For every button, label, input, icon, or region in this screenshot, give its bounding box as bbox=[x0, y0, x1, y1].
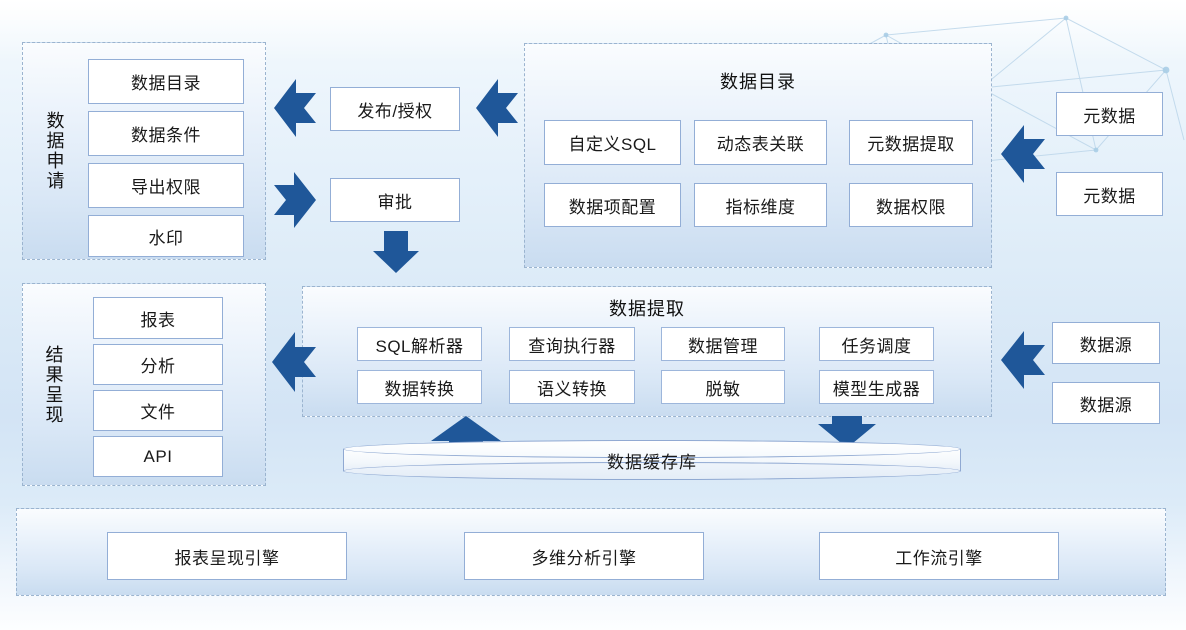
box-data-management[interactable]: 数据管理 bbox=[661, 327, 785, 361]
box-metadata-2[interactable]: 元数据 bbox=[1056, 172, 1163, 216]
arrow-approve-down-arrow bbox=[371, 231, 421, 273]
box-file[interactable]: 文件 bbox=[93, 390, 223, 431]
label-char: 现 bbox=[46, 405, 65, 425]
box-metric-dimension[interactable]: 指标维度 bbox=[694, 183, 827, 227]
box-task-schedule[interactable]: 任务调度 bbox=[819, 327, 934, 361]
box-model-generator[interactable]: 模型生成器 bbox=[819, 370, 934, 404]
panel-data-request-label: 数 据 申 请 bbox=[32, 50, 80, 252]
box-datasource-2[interactable]: 数据源 bbox=[1052, 382, 1160, 424]
arrow-metadata-to-catalog-left-arrow bbox=[1001, 123, 1045, 185]
cylinder-label: 数据缓存库 bbox=[343, 440, 961, 480]
panel-data-extract-title: 数据提取 bbox=[303, 295, 991, 321]
label-char: 果 bbox=[46, 365, 65, 385]
box-datasource-1[interactable]: 数据源 bbox=[1052, 322, 1160, 364]
box-data-condition[interactable]: 数据条件 bbox=[88, 111, 244, 156]
cylinder-data-cache[interactable]: 数据缓存库 bbox=[343, 440, 961, 480]
box-semantic-transform[interactable]: 语义转换 bbox=[509, 370, 635, 404]
box-analysis[interactable]: 分析 bbox=[93, 344, 223, 385]
box-data-permission[interactable]: 数据权限 bbox=[849, 183, 973, 227]
box-data-catalog-request[interactable]: 数据目录 bbox=[88, 59, 244, 104]
box-query-executor[interactable]: 查询执行器 bbox=[509, 327, 635, 361]
label-char: 数 bbox=[47, 111, 66, 131]
box-olap-engine[interactable]: 多维分析引擎 bbox=[464, 532, 704, 580]
box-data-transform[interactable]: 数据转换 bbox=[357, 370, 482, 404]
box-metadata-1[interactable]: 元数据 bbox=[1056, 92, 1163, 136]
diagram-canvas: 数 据 申 请 数据目录 数据条件 导出权限 水印 结 果 呈 现 报表 分析 … bbox=[0, 0, 1186, 630]
box-desensitize[interactable]: 脱敏 bbox=[661, 370, 785, 404]
box-export-permission[interactable]: 导出权限 bbox=[88, 163, 244, 208]
box-watermark[interactable]: 水印 bbox=[88, 215, 244, 257]
box-data-item-config[interactable]: 数据项配置 bbox=[544, 183, 681, 227]
box-sql-parser[interactable]: SQL解析器 bbox=[357, 327, 482, 361]
label-char: 请 bbox=[47, 171, 66, 191]
label-char: 申 bbox=[47, 151, 66, 171]
box-metadata-extract[interactable]: 元数据提取 bbox=[849, 120, 973, 165]
box-dynamic-table-join[interactable]: 动态表关联 bbox=[694, 120, 827, 165]
arrow-publish-to-request-left-arrow bbox=[274, 77, 316, 139]
box-report-engine[interactable]: 报表呈现引擎 bbox=[107, 532, 347, 580]
box-approve[interactable]: 审批 bbox=[330, 178, 460, 222]
box-publish-authorize[interactable]: 发布/授权 bbox=[330, 87, 460, 131]
box-workflow-engine[interactable]: 工作流引擎 bbox=[819, 532, 1059, 580]
arrow-request-to-approve-right-arrow bbox=[274, 170, 316, 230]
box-report[interactable]: 报表 bbox=[93, 297, 223, 339]
label-char: 据 bbox=[47, 131, 66, 151]
arrow-catalog-to-publish-left-arrow bbox=[476, 77, 518, 139]
label-char: 呈 bbox=[46, 385, 65, 405]
box-custom-sql[interactable]: 自定义SQL bbox=[544, 120, 681, 165]
arrow-datasource-to-extract-left-arrow bbox=[1001, 329, 1045, 391]
panel-result-presentation-label: 结 果 呈 现 bbox=[32, 292, 78, 478]
box-api[interactable]: API bbox=[93, 436, 223, 477]
arrow-extract-to-result-left-arrow bbox=[272, 330, 316, 394]
panel-data-catalog-title: 数据目录 bbox=[525, 68, 991, 94]
label-char: 结 bbox=[46, 345, 65, 365]
